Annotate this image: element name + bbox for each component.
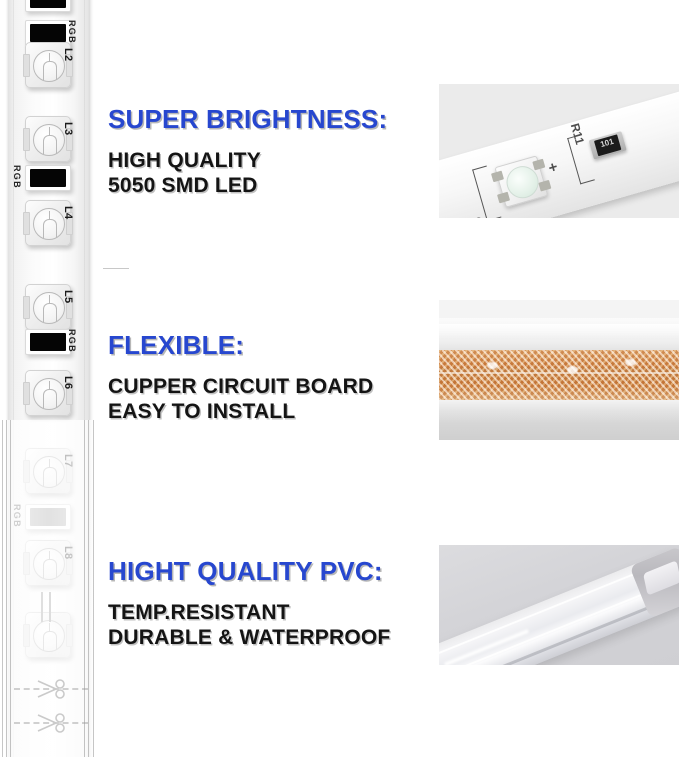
copper-braid-band (439, 350, 679, 400)
feature-heading: SUPER BRIGHTNESS: (108, 104, 387, 135)
copper-highlight (625, 359, 636, 366)
feature-body: HIGH QUALITY 5050 SMD LED (108, 149, 387, 198)
led-solder-pad (491, 171, 504, 183)
led-pad-left (23, 212, 30, 235)
sleeve-edge-line (10, 420, 11, 757)
feature-flexible: FLEXIBLE: CUPPER CIRCUIT BOARD EASY TO I… (108, 330, 373, 424)
led-lens (33, 378, 65, 410)
led-pad-left (23, 296, 30, 319)
resistor-r11: 101 (589, 131, 627, 160)
sleeve-edge-line (93, 420, 94, 757)
rgb-chip-label: RGB (67, 329, 77, 353)
led-pad-left (23, 54, 30, 77)
silkscreen-plus: + (547, 158, 560, 177)
rgb-chip-label: RGB (12, 165, 22, 189)
pvc-bottom-layer (439, 400, 679, 440)
feature-line: HIGH QUALITY (108, 149, 387, 174)
feature-line: TEMP.RESISTANT (108, 601, 390, 626)
copper-highlight (487, 362, 498, 369)
rgb-chip (25, 0, 71, 12)
rgb-chip-body (30, 0, 66, 8)
led-lens (33, 292, 65, 324)
led-pad-left (23, 128, 30, 151)
scissors-icon (36, 678, 66, 700)
led-solder-pad (538, 180, 551, 192)
rgb-chip-body (30, 24, 66, 42)
led-strip-column: RGB L2 L3 RGB L4 (0, 0, 98, 757)
led-lens (33, 208, 65, 240)
pvc-sleeve-overlay (0, 420, 98, 757)
led-solder-pad (532, 159, 545, 171)
rgb-chip-body (30, 333, 66, 351)
pvc-gloss-highlight (439, 324, 679, 338)
cut-mark-2 (14, 712, 88, 734)
feature-heading: HIGHT QUALITY PVC: (108, 556, 390, 587)
led-label-l4: L4 (62, 206, 74, 219)
tube-end-opening (643, 560, 679, 595)
copper-highlight (567, 366, 578, 373)
feature-line: CUPPER CIRCUIT BOARD (108, 375, 373, 400)
led-label-l2: L2 (62, 48, 74, 61)
rgb-chip (25, 165, 71, 191)
led-label-l3: L3 (62, 122, 74, 135)
photo-pcb-macro: 101 R11 + D2 (439, 84, 679, 218)
feature-body: CUPPER CIRCUIT BOARD EASY TO INSTALL (108, 375, 373, 424)
sleeve-edge-line (2, 420, 3, 757)
rgb-chip-label: RGB (67, 20, 77, 44)
feature-line: EASY TO INSTALL (108, 400, 373, 425)
feature-line: DURABLE & WATERPROOF (108, 626, 390, 651)
led-label-l6: L6 (62, 376, 74, 389)
divider-rule (103, 268, 129, 269)
pvc-top-layer (439, 318, 679, 352)
cut-mark-1 (14, 678, 88, 700)
rgb-chip (25, 329, 71, 355)
sleeve-edge-line (84, 420, 85, 757)
photo-copper-circuit-board (439, 300, 679, 440)
led-lens (33, 124, 65, 156)
led-solder-pad (497, 192, 510, 204)
sleeve-edge-line (88, 420, 89, 757)
sleeve-edge-line (6, 420, 7, 757)
rgb-chip-body (30, 169, 66, 187)
led-pad-left (23, 382, 30, 405)
feature-hight-quality-pvc: HIGHT QUALITY PVC: TEMP.RESISTANT DURABL… (108, 556, 390, 650)
smd-led-5050 (494, 155, 548, 208)
feature-super-brightness: SUPER BRIGHTNESS: HIGH QUALITY 5050 SMD … (108, 104, 387, 198)
scissors-icon (36, 712, 66, 734)
feature-body: TEMP.RESISTANT DURABLE & WATERPROOF (108, 601, 390, 650)
led-lens (33, 50, 65, 82)
feature-line: 5050 SMD LED (108, 174, 387, 199)
feature-heading: FLEXIBLE: (108, 330, 373, 361)
led-label-l5: L5 (62, 290, 74, 303)
silkscreen-d2: D2 (466, 215, 482, 218)
photo-pvc-sleeve-tip (439, 545, 679, 665)
